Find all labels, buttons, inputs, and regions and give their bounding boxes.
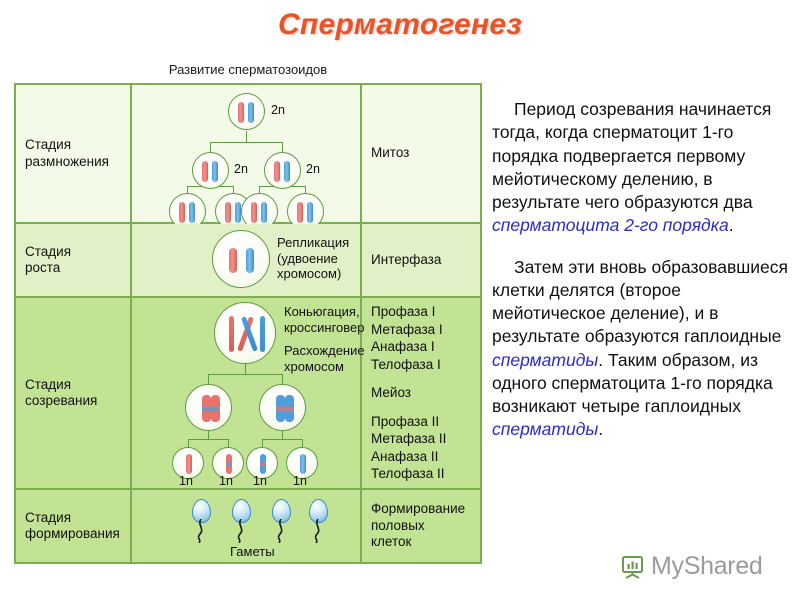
- figure-note-conjugation: Коньюгация, кроссинговер: [284, 304, 365, 335]
- stage-label: Стадия созревания: [16, 371, 130, 416]
- cell-replication: [212, 230, 270, 288]
- watermark-label: MyShared: [651, 552, 763, 581]
- phase-label: Телофаза I: [371, 356, 471, 374]
- sperm-tail-icon: [274, 519, 288, 543]
- phase-label: Интерфаза: [362, 246, 480, 274]
- sperm-tail-icon: [234, 519, 248, 543]
- page-title: Сперматогенез: [0, 8, 800, 42]
- ploidy-label: 2n: [271, 103, 285, 117]
- spermatogenesis-table-panel: Развитие сперматозоидов Стадия размножен…: [10, 62, 482, 560]
- presentation-chart-icon: [620, 554, 646, 580]
- term-spermatid-1: сперматиды: [492, 350, 598, 370]
- phase-label: Профаза I: [371, 303, 471, 321]
- phase-label-meiosis: Мейоз: [371, 384, 471, 402]
- sperm-cell: [229, 499, 253, 543]
- sperm-cell: [269, 499, 293, 543]
- stage-cell: Стадия размножения: [15, 84, 131, 223]
- table-caption: Развитие сперматозоидов: [128, 62, 368, 77]
- gametes-caption: Гаметы: [230, 544, 275, 559]
- ploidy-label: 1n: [253, 474, 267, 488]
- figure-note: Репликация (удвоение хромосом): [277, 235, 349, 282]
- phase-spacer: [371, 402, 471, 413]
- figure-cell-meiosis: Коньюгация, кроссинговер Расхождение хро…: [131, 297, 361, 489]
- term-spermatid-2: сперматиды: [492, 419, 598, 439]
- phase-list: Профаза I Метафаза I Анафаза I Телофаза …: [362, 298, 480, 488]
- cell-1n-secondary-right: [259, 384, 306, 431]
- stage-label: Стадия размножения: [16, 131, 130, 176]
- stage-cell: Стадия роста: [15, 223, 131, 297]
- phase-label: Формирование половых клеток: [362, 495, 480, 556]
- phase-cell: Формирование половых клеток: [361, 489, 481, 563]
- phase-cell: Интерфаза: [361, 223, 481, 297]
- description-text-panel: Период созревания начинается тогда, когд…: [492, 98, 792, 460]
- ploidy-label: 2n: [306, 162, 320, 176]
- figure-cell-replication: Репликация (удвоение хромосом): [131, 223, 361, 297]
- table-row: Стадия роста Репликация (удвоение хромос…: [15, 223, 481, 297]
- phase-cell: Митоз: [361, 84, 481, 223]
- paragraph-1-text-a: Период созревания начинается тогда, когд…: [492, 99, 771, 212]
- cell-conjugation: [214, 302, 276, 364]
- sperm-cell: [306, 499, 330, 543]
- table-row: Стадия размножения: [15, 84, 481, 223]
- cell-2n-gen2-left: [192, 152, 229, 189]
- paragraph-1-text-b: .: [729, 215, 734, 235]
- figure-note-segregation: Расхождение хромосом: [284, 343, 365, 374]
- phase-label: Метафаза I: [371, 321, 471, 339]
- phase-label: Анафаза II: [371, 448, 471, 466]
- term-spermatocyte-2: сперматоцита 2-го порядка: [492, 215, 729, 235]
- stage-cell: Стадия созревания: [15, 297, 131, 489]
- cell-2n-gen1: [228, 93, 265, 130]
- phase-label: Митоз: [362, 139, 480, 167]
- ploidy-label: 1n: [293, 474, 307, 488]
- phase-label: Профаза II: [371, 413, 471, 431]
- cell-2n-gen2-right: [264, 152, 301, 189]
- sperm-cell: [189, 499, 213, 543]
- phase-label: Телофаза II: [371, 465, 471, 483]
- watermark: MyShared: [620, 552, 763, 581]
- paragraph-maturation: Период созревания начинается тогда, когд…: [492, 98, 792, 238]
- ploidy-label: 1n: [219, 474, 233, 488]
- stage-label: Стадия роста: [16, 238, 130, 283]
- phase-cell: Профаза I Метафаза I Анафаза I Телофаза …: [361, 297, 481, 489]
- table-row: Стадия созревания Коньюгация, кроссингов…: [15, 297, 481, 489]
- figure-cell-gametes: Гаметы: [131, 489, 361, 563]
- paragraph-2-text-c: .: [598, 419, 603, 439]
- stage-label: Стадия формирования: [16, 504, 130, 549]
- stage-cell: Стадия формирования: [15, 489, 131, 563]
- sperm-tail-icon: [311, 519, 325, 543]
- paragraph-spermatids: Затем эти вновь образовавшиеся клетки де…: [492, 256, 792, 442]
- phase-label: Анафаза I: [371, 338, 471, 356]
- ploidy-label: 2n: [234, 162, 248, 176]
- phase-label: Метафаза II: [371, 430, 471, 448]
- figure-cell-mitosis: 2n 2n 2n: [131, 84, 361, 223]
- sperm-tail-icon: [194, 519, 208, 543]
- stage-table: Стадия размножения: [14, 83, 482, 564]
- table-row: Стадия формирования: [15, 489, 481, 563]
- cell-1n-secondary-left: [185, 384, 232, 431]
- paragraph-2-text-a: Затем эти вновь образовавшиеся клетки де…: [492, 257, 788, 347]
- phase-spacer: [371, 373, 471, 384]
- ploidy-label: 1n: [179, 474, 193, 488]
